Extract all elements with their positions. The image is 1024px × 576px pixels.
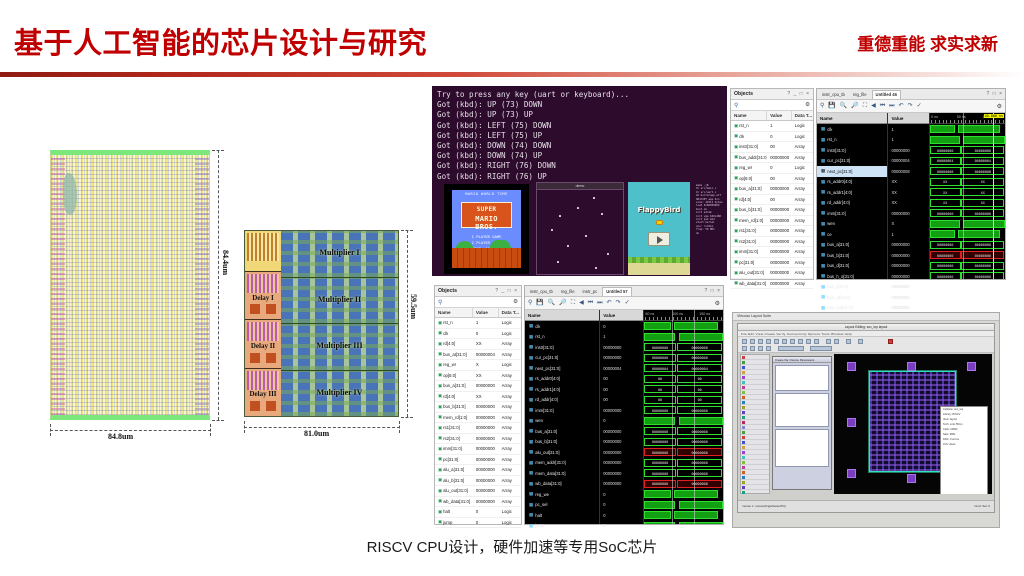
eda-menubar-items[interactable]: File Edit View Create Verify Connectivit…: [741, 332, 852, 336]
signal-row[interactable]: ▩rd_addr[4:0]: [817, 198, 887, 209]
cell-value: 00000000: [767, 268, 792, 278]
objects-row-list[interactable]: ▣rst_n1Logic▣clk0Logic▣rd[4:0]XXArray▣bu…: [435, 318, 521, 528]
table-row[interactable]: ▣bus_b[31:0]00000000Array: [435, 402, 521, 413]
waveform-viewer-bottom[interactable]: instr_cpu_tbreg_fileinstr_pcUntitled 57?…: [524, 285, 724, 525]
cell-datatype: Array: [499, 402, 521, 412]
table-row[interactable]: ▣rd[4:0]XXArray: [435, 392, 521, 403]
signal-row[interactable]: ▩rs_addr0[4:0]: [525, 374, 599, 385]
eda-status-bar: mouse L: mouseSingleSelectPt() Cmd: Sel:…: [738, 500, 994, 512]
eda-tool-icon[interactable]: [774, 339, 779, 344]
table-row[interactable]: ▣clk0Logic: [731, 132, 813, 143]
cell-value: 00000004: [473, 350, 499, 360]
bus-value-label: XX: [931, 180, 960, 184]
table-row[interactable]: ▣pc[31:0]00000000Array: [731, 258, 813, 269]
zoom-out-icon[interactable]: 🔍: [548, 300, 555, 306]
signal-row[interactable]: ▩rs_addr0[4:0]: [817, 177, 887, 188]
next-icon[interactable]: ⏭: [597, 300, 602, 306]
zoom-in-icon[interactable]: 🔎: [559, 300, 566, 306]
tab-reg-file[interactable]: reg_file: [850, 90, 870, 99]
cell-value: 00000000: [473, 476, 499, 486]
tab-instr-cpu-tb[interactable]: instr_cpu_tb: [527, 287, 556, 296]
eda-tool-icon[interactable]: [750, 346, 755, 351]
signal-value: 00: [603, 376, 608, 381]
waveform-cursor[interactable]: [993, 113, 994, 279]
cell-value: 00000000: [473, 381, 499, 391]
waveform-time-ruler[interactable]: 50 ns100 ns150 ns: [644, 310, 723, 321]
search-icon[interactable]: ⚲: [438, 299, 442, 306]
signal-row[interactable]: ▩bus_t[31:0]: [817, 282, 887, 293]
tab-instr-pc[interactable]: instr_pc: [580, 287, 601, 296]
cell-name: ▣pc[31:0]: [731, 258, 767, 268]
eda-io-pad: [847, 469, 856, 478]
signal-row[interactable]: ▩bus_d[31:0]: [817, 261, 887, 272]
slide-caption: RISCV CPU设计，硬件加速等专用SoC芯片: [0, 536, 1024, 557]
multiplier-block-2-label: Multiplier II: [281, 295, 398, 304]
signal-row[interactable]: ▩reg_we: [525, 489, 599, 500]
ruler-tick-label: 0 ns: [931, 115, 938, 119]
table-row[interactable]: ▣bus_a[31:0]00000000Array: [731, 184, 813, 195]
waveform-viewer-top[interactable]: instr_cpu_tbreg_fileUntitled 46? □ × ⚲ 💾…: [816, 88, 1006, 280]
marker-icon[interactable]: ✓: [625, 300, 630, 306]
super-mario-bros-window[interactable]: MARIO WORLD TIME SUPER MARIO BROS. 1 PLA…: [444, 184, 529, 274]
eda-tool-icon[interactable]: [742, 339, 747, 344]
eda-grid-selector[interactable]: [810, 346, 832, 351]
signal-name: clk: [535, 324, 540, 329]
eda-stop-icon[interactable]: [888, 339, 893, 344]
cell-datatype: Array: [499, 413, 521, 423]
ruler-tick: [657, 317, 658, 320]
waveform-toolbar[interactable]: ⚲ 💾 🔍 🔎 ⛶ ◀ ⏮ ⏭ ↶ ↷ ✓ ⚙: [525, 297, 723, 310]
cell-value: XX: [473, 392, 499, 402]
objects-row-list[interactable]: ▣rst_n1Logic▣clk0Logic▣instr[31:0]00Arra…: [731, 121, 813, 289]
zoom-in-icon[interactable]: 🔎: [851, 103, 858, 109]
table-row[interactable]: ▣pc[31:0]00000000Array: [435, 455, 521, 466]
table-row[interactable]: ▣reg_wr0Logic: [731, 163, 813, 174]
table-row[interactable]: ▣alu_a[31:0]00000000Array: [435, 465, 521, 476]
table-row[interactable]: ▣rst_n1Logic: [435, 318, 521, 329]
table-row[interactable]: ▣bus_a[31:0]00000000Array: [435, 381, 521, 392]
cell-name: ▣rd[4:0]: [731, 195, 767, 205]
ruler-tick: [946, 120, 947, 123]
signal-bus-icon: ▩: [821, 263, 825, 269]
cell-datatype: Array: [792, 205, 813, 215]
tab-instr-cpu-tb[interactable]: instr_cpu_tb: [819, 90, 848, 99]
cell-value: XX: [473, 339, 499, 349]
signal-row[interactable]: ▩wen: [817, 219, 887, 230]
cell-name: ▣imm[31:0]: [435, 444, 473, 454]
demo-games-strip: MARIO WORLD TIME SUPER MARIO BROS. 1 PLA…: [432, 182, 727, 277]
cell-name: ▣rs1[31:0]: [731, 226, 767, 236]
signal-row[interactable]: ▩clk: [525, 321, 599, 332]
signal-bus-icon: ▩: [821, 147, 825, 153]
bus-value-label: 00000000: [931, 149, 960, 153]
search-icon[interactable]: ⚲: [734, 102, 738, 109]
signal-row[interactable]: ▩alu_out[31:0]: [525, 447, 599, 458]
bus-value-label: 00000000: [931, 243, 960, 247]
signal-value: 1: [891, 137, 893, 142]
eda-layout-canvas[interactable]: Cellview: soc_top Library: RISCV View: l…: [834, 354, 992, 494]
signal-bus-icon: ▩: [821, 168, 825, 174]
signal-value-list: 0100000000000000000000000400000000000000…: [600, 321, 643, 531]
eda-tool-icon[interactable]: [750, 339, 755, 344]
waveform-marker-line[interactable]: [672, 310, 673, 524]
signal-name: instr[31:0]: [535, 345, 553, 350]
signal-name-column[interactable]: Name ▩clk▩rst_n▩instr[31:0]▩cur_pc[31:0]…: [525, 310, 600, 524]
eda-tool-icon[interactable]: [834, 339, 839, 344]
bus-value-label: 00000008: [962, 170, 1003, 174]
signal-bus-icon: ▩: [821, 126, 825, 132]
signal-value-row: XX: [888, 187, 928, 198]
cell-datatype: Array: [792, 268, 813, 278]
table-row[interactable]: ▣op[6:0]00Array: [731, 174, 813, 185]
eda-tool-icon[interactable]: [758, 339, 763, 344]
step-back-icon[interactable]: ⏮: [880, 103, 885, 109]
table-row[interactable]: ▣rs2[31:0]00000000Array: [731, 237, 813, 248]
tab-untitled-57[interactable]: Untitled 57: [602, 287, 631, 296]
eda-dialog-tree[interactable]: [775, 365, 829, 391]
eda-window-title: Layout Editing: soc_top layout: [738, 325, 994, 329]
undo-icon[interactable]: ↶: [899, 103, 904, 109]
ruler-tick: [649, 317, 650, 320]
signal-row[interactable]: ▩rd_addr[4:0]: [525, 395, 599, 406]
zoom-fit-icon[interactable]: ⛶: [863, 103, 867, 109]
table-row[interactable]: ▣wb_data[31:0]00000000Array: [731, 279, 813, 290]
table-row[interactable]: ▣imm[31:0]00000000Array: [435, 444, 521, 455]
signal-row[interactable]: ▩instr[31:0]: [817, 145, 887, 156]
column-datatype: Data T...: [792, 111, 813, 120]
save-icon[interactable]: 💾: [536, 300, 543, 306]
eda-layer-row[interactable]: [741, 490, 769, 495]
signal-row[interactable]: ▩rst_n: [525, 332, 599, 343]
multiplier-block-4: Multiplier IV: [281, 371, 398, 417]
waveform-tab-bar[interactable]: instr_cpu_tbreg_fileUntitled 46? □ ×: [817, 89, 1005, 100]
signal-row[interactable]: ▩cur_pc[31:0]: [817, 156, 887, 167]
bus-value-label: XX: [931, 191, 960, 195]
signal-value: 00: [603, 397, 608, 402]
cell-value: 00000000: [473, 465, 499, 475]
zoom-out-icon[interactable]: 🔍: [840, 103, 847, 109]
bus-value-label: 00000000: [678, 346, 721, 350]
table-row[interactable]: ▣wb_data[31:0]00000000Array: [435, 497, 521, 508]
save-icon[interactable]: 💾: [828, 103, 835, 109]
panel-window-controls[interactable]: ? □ ×: [987, 91, 1004, 97]
redo-icon[interactable]: ↷: [616, 300, 621, 306]
waveform-toolbar[interactable]: ⚲ 💾 🔍 🔎 ⛶ ◀ ⏮ ⏭ ↶ ↷ ✓ ⚙: [817, 100, 1005, 113]
signal-row[interactable]: ▩imm[31:0]: [817, 208, 887, 219]
cell-name: ▣bus_at[31:0]: [435, 350, 473, 360]
signal-name: bus_a[31:0]: [535, 429, 557, 434]
table-row[interactable]: ▣instr[31:0]00Array: [731, 142, 813, 153]
signal-value-row: 0: [600, 500, 643, 511]
eda-tool-icon[interactable]: [814, 339, 819, 344]
signal-bus-icon: ▩: [529, 460, 533, 466]
gear-icon[interactable]: ⚙: [997, 103, 1002, 110]
institution-motto: 重德重能 求实求新: [857, 30, 998, 55]
signal-bus-icon: ▩: [529, 323, 533, 329]
signal-row[interactable]: ▩rs_addr1[4:0]: [525, 384, 599, 395]
ruler-tick: [954, 120, 955, 123]
table-row[interactable]: ▣rs2[31:0]00000000Array: [435, 434, 521, 445]
cell-value: 00000000: [767, 216, 792, 226]
previous-icon[interactable]: ◀: [579, 300, 584, 306]
delay-cap-2: [266, 353, 276, 363]
table-row[interactable]: ▣clk0Logic: [435, 329, 521, 340]
table-row[interactable]: ▣alu_out[31:0]00000000Array: [435, 486, 521, 497]
chip-layout-floorplan: Delay I Delay II Delay III Multiplier I: [232, 222, 422, 442]
delay-cap-1: [250, 401, 260, 411]
eda-dialog-preview[interactable]: [775, 393, 829, 427]
bus-value-label: XX: [962, 191, 1003, 195]
waveform-tab-bar[interactable]: instr_cpu_tbreg_fileinstr_pcUntitled 57?…: [525, 286, 723, 297]
signal-row[interactable]: ▩mem_data[31:0]: [525, 468, 599, 479]
eda-tool-icon[interactable]: [782, 339, 787, 344]
signal-row[interactable]: ▩bus_w[31:0]: [817, 292, 887, 303]
signal-bus-icon: ▩: [821, 252, 825, 258]
next-icon[interactable]: ⏭: [889, 103, 894, 109]
bus-value-label: 00000000: [962, 264, 1003, 268]
step-back-icon[interactable]: ⏮: [588, 300, 593, 306]
cell-name: ▣rd[4:0]: [435, 339, 473, 349]
signal-row[interactable]: ▩ce: [817, 229, 887, 240]
table-row[interactable]: ▣mem_rd[1:0]00000000Array: [731, 216, 813, 227]
bus-value-label: 00000000: [962, 212, 1003, 216]
bus-value-label: XX: [962, 180, 1003, 184]
gear-icon[interactable]: ⚙: [513, 299, 518, 305]
signal-name-list[interactable]: ▩clk▩rst_n▩instr[31:0]▩cur_pc[31:0]▩next…: [525, 321, 599, 531]
cell-name: ▣alu_b[31:0]: [435, 476, 473, 486]
panel-window-controls[interactable]: ? _ □ ×: [787, 91, 810, 97]
objects-panel-title: Objects: [438, 288, 457, 294]
eda-app-title: Virtuoso Layout Suite: [737, 314, 771, 318]
previous-icon[interactable]: ◀: [871, 103, 876, 109]
ruler-tick: [958, 120, 959, 123]
dimension-cap-bottom: [401, 417, 413, 418]
signal-row[interactable]: ▩mem_addr[31:0]: [525, 458, 599, 469]
flappy-play-button[interactable]: [648, 232, 670, 246]
table-row[interactable]: ▣imm[31:0]00000000Array: [731, 247, 813, 258]
eda-layout-tool-screenshot[interactable]: Virtuoso Layout Suite Layout Editing: so…: [732, 312, 1000, 528]
particle-dot: [585, 235, 587, 237]
eda-tool-icon[interactable]: [758, 346, 763, 351]
bus-value-label: 00000000: [645, 482, 675, 486]
bus-value-label: 00: [678, 377, 721, 381]
signal-bus-icon: ▩: [821, 200, 825, 206]
signal-row[interactable]: ▩bus_a[31:0]: [817, 240, 887, 251]
table-row[interactable]: ▣halt0Logic: [435, 507, 521, 518]
panel-window-controls[interactable]: ? _ □ ×: [495, 288, 518, 294]
signal-value: 00000000: [603, 450, 621, 455]
cell-name: ▣alu_out[31:0]: [731, 268, 767, 278]
signal-row[interactable]: ▩bus_b[31:0]: [525, 437, 599, 448]
waveform-canvas-top[interactable]: 0 ns50 ns100 ns 000000000000000000000004…: [930, 113, 1005, 279]
signal-value: 0: [603, 523, 605, 528]
eda-layer-selector[interactable]: [778, 346, 804, 351]
particle-demo-window[interactable]: demo: [536, 182, 624, 275]
cell-datatype: Array: [792, 237, 813, 247]
signal-value: X: [891, 221, 894, 226]
signal-row[interactable]: ▩pc_sel: [525, 500, 599, 511]
ruler-tick: [950, 120, 951, 123]
signal-bus-icon: ▩: [529, 344, 533, 350]
signal-value: 0: [603, 502, 605, 507]
signal-name: bus_h_o[31:0]: [827, 274, 854, 279]
eda-tool-icon[interactable]: [846, 339, 851, 344]
eda-io-pad: [967, 362, 976, 371]
signal-name-list[interactable]: ▩clk▩rst_n▩instr[31:0]▩cur_pc[31:0]▩next…: [817, 124, 887, 313]
signal-row[interactable]: ▩bus_h_o[31:0]: [817, 271, 887, 282]
redo-icon[interactable]: ↷: [908, 103, 913, 109]
objects-search-row[interactable]: ⚲ ⚙: [731, 100, 813, 111]
eda-tool-icon[interactable]: [798, 339, 803, 344]
particle-dot: [595, 267, 597, 269]
waveform-canvas-bottom[interactable]: 50 ns100 ns150 ns 0000000000000000000000…: [644, 310, 723, 524]
terminal-line: Got (kbd): UP (73) UP: [437, 110, 722, 120]
waveform-trace: 0000: [644, 384, 723, 395]
bus-value-label: XX: [931, 201, 960, 205]
table-row[interactable]: ▣bus_addr[31:0]00000000Array: [731, 153, 813, 164]
particle-window-titlebar: demo: [537, 183, 623, 190]
table-row[interactable]: ▣bus_at[31:0]00000004Array: [435, 350, 521, 361]
eda-tool-icon[interactable]: [766, 339, 771, 344]
cell-datatype: Logic: [499, 507, 521, 517]
table-row[interactable]: ▣rd[4:0]XXArray: [435, 339, 521, 350]
signal-bus-icon: ▩: [529, 449, 533, 455]
signal-row[interactable]: ▩bus_b[31:0]: [817, 250, 887, 261]
signal-value-row: 00000000: [888, 250, 928, 261]
table-row[interactable]: ▣rd[4:0]00Array: [731, 195, 813, 206]
cell-datatype: Logic: [499, 318, 521, 328]
tab-untitled-46[interactable]: Untitled 46: [872, 90, 901, 99]
table-row[interactable]: ▣rst_n1Logic: [731, 121, 813, 132]
ruler-tick-label: 100 ns: [672, 312, 683, 316]
zoom-fit-icon[interactable]: ⛶: [571, 300, 575, 306]
gear-icon[interactable]: ⚙: [715, 300, 720, 307]
eda-tool-icon[interactable]: [858, 339, 863, 344]
signal-row[interactable]: ▩next_pc[31:0]: [525, 363, 599, 374]
cell-value: 00: [767, 142, 792, 152]
multiplier-block-1: Multiplier I: [281, 231, 398, 278]
cell-name: ▣mem_rd[1:0]: [731, 216, 767, 226]
table-row[interactable]: ▣rs1[31:0]00000000Array: [435, 423, 521, 434]
signal-value: 00000000: [603, 439, 621, 444]
signal-row[interactable]: ▩bus_a[31:0]: [525, 426, 599, 437]
eda-status-left: mouse L: mouseSingleSelectPt(): [742, 504, 786, 508]
table-row[interactable]: ▣mem_rd[1:0]00000000Array: [435, 413, 521, 424]
eda-info-panel[interactable]: Cellview: soc_top Library: RISCV View: l…: [940, 406, 988, 494]
panel-window-controls[interactable]: ? □ ×: [705, 288, 722, 294]
table-row[interactable]: ▣bus_b[31:0]00000000Array: [731, 205, 813, 216]
ruler-tick: [995, 120, 996, 123]
objects-panel-top[interactable]: Objects ? _ □ × ⚲ ⚙ Name Value Data T...…: [730, 88, 814, 280]
ruler-tick: [653, 317, 654, 320]
floorplan-multiplier-column: Multiplier I Multiplier II Multiplier II…: [281, 231, 398, 416]
cell-name: ▣wb_data[31:0]: [731, 279, 767, 289]
eda-layer-palette[interactable]: [740, 354, 770, 494]
bus-value-label: 00000004: [678, 367, 721, 371]
ruler-tick: [980, 120, 981, 123]
gear-icon[interactable]: ⚙: [805, 102, 810, 108]
table-row[interactable]: ▣alu_b[31:0]00000000Array: [435, 476, 521, 487]
signal-value: 0: [603, 418, 605, 423]
flappy-bird-window[interactable]: FlappyBird: [628, 182, 690, 275]
eda-main-window[interactable]: Layout Editing: soc_top layout File Edit…: [737, 323, 995, 513]
signal-row[interactable]: ▩halt: [525, 510, 599, 521]
signal-row[interactable]: ▩wb_data[31:0]: [525, 479, 599, 490]
signal-bus-icon: ▩: [529, 334, 533, 340]
eda-io-pad: [907, 362, 916, 371]
search-icon[interactable]: ⚲: [820, 103, 824, 109]
signal-bus-icon: ▩: [821, 242, 825, 248]
table-row[interactable]: ▣rs1[31:0]00000000Array: [731, 226, 813, 237]
marker-icon[interactable]: ✓: [917, 103, 922, 109]
search-icon[interactable]: ⚲: [528, 300, 532, 306]
signal-value-header: Value: [888, 113, 928, 124]
undo-icon[interactable]: ↶: [607, 300, 612, 306]
signal-row[interactable]: ▩rs_addr1[4:0]: [817, 187, 887, 198]
signal-value-row: XX: [888, 177, 928, 188]
signal-row[interactable]: ▩rst_n: [817, 135, 887, 146]
eda-toolbar[interactable]: [738, 337, 994, 353]
terminal-line: Got (kbd): DOWN (74) UP: [437, 151, 722, 161]
signal-value: 00000000: [891, 295, 909, 300]
eda-tool-icon[interactable]: [766, 346, 771, 351]
signal-row[interactable]: ▩instr[31:0]: [525, 342, 599, 353]
signal-value-row: 00000004: [888, 156, 928, 167]
signal-value-row: 00: [600, 395, 643, 406]
table-row[interactable]: ▣alu_out[31:0]00000000Array: [731, 268, 813, 279]
signal-bus-icon: ▩: [529, 491, 533, 497]
eda-io-pad: [847, 418, 856, 427]
delay-fins: [247, 274, 279, 293]
signal-row[interactable]: ▩next_pc[31:0]: [817, 166, 887, 177]
signal-row[interactable]: ▩jump: [525, 521, 599, 532]
objects-panel-header: Objects ? _ □ ×: [435, 286, 521, 297]
eda-tool-icon[interactable]: [790, 339, 795, 344]
signal-bus-icon: ▩: [529, 428, 533, 434]
signal-row[interactable]: ▩cur_pc[31:0]: [525, 353, 599, 364]
log-line: ok: [696, 232, 725, 235]
signal-value-column: Value 11000000000000000400000008XXXXXX00…: [888, 113, 929, 279]
signal-value-row: 1: [888, 229, 928, 240]
objects-panel-bottom[interactable]: Objects ? _ □ × ⚲ ⚙ Name Value Data T...…: [434, 285, 522, 525]
tab-reg-file[interactable]: reg_file: [558, 287, 578, 296]
eda-parameter-dialog[interactable]: Create Via / Device Parameters: [772, 356, 832, 490]
eda-tool-icon[interactable]: [806, 339, 811, 344]
cell-datatype: Array: [792, 184, 813, 194]
signal-row[interactable]: ▩wen: [525, 416, 599, 427]
table-row[interactable]: ▣op[6:0]XXArray: [435, 371, 521, 382]
signal-name: pc_sel: [535, 502, 547, 507]
eda-dialog-table[interactable]: [775, 429, 829, 467]
waveform-marker-line[interactable]: [963, 113, 964, 279]
objects-search-row[interactable]: ⚲ ⚙: [435, 297, 521, 308]
eda-tool-icon[interactable]: [826, 339, 831, 344]
signal-row[interactable]: ▩imm[31:0]: [525, 405, 599, 416]
signal-value-row: 00000000: [600, 468, 643, 479]
cell-value: 00000000: [473, 497, 499, 507]
table-row[interactable]: ▣reg_wrXLogic: [435, 360, 521, 371]
bus-value-label: 00000000: [678, 409, 721, 413]
cell-datatype: Array: [792, 247, 813, 257]
eda-tool-icon[interactable]: [742, 346, 747, 351]
cell-value: 00000000: [473, 402, 499, 412]
signal-value-row: 1: [888, 135, 928, 146]
table-row[interactable]: ▣jump0Logic: [435, 518, 521, 529]
waveform-marker-line-2[interactable]: [694, 310, 695, 524]
signal-value-row: 00000004: [600, 363, 643, 374]
signal-row[interactable]: ▩clk: [817, 124, 887, 135]
signal-name-column[interactable]: Name ▩clk▩rst_n▩instr[31:0]▩cur_pc[31:0]…: [817, 113, 888, 279]
